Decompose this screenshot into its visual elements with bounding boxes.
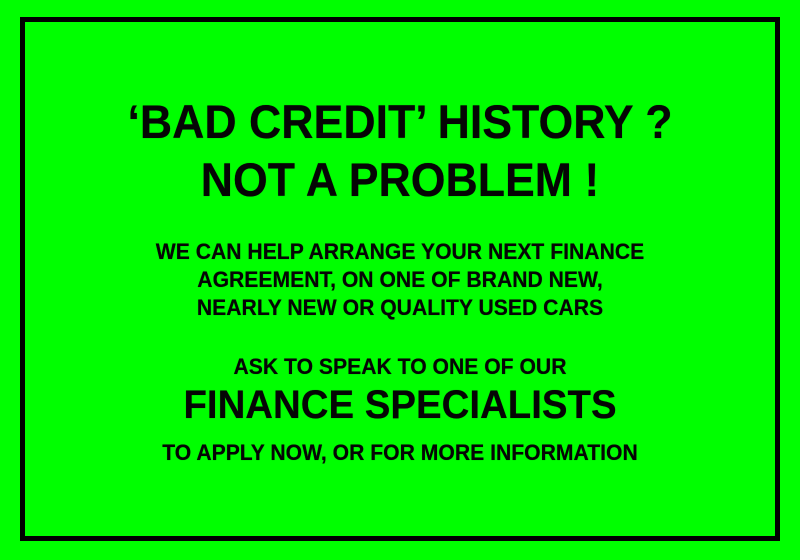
cta-lead-in-text: ASK TO SPEAK TO ONE OF OUR [24,356,776,379]
body-line-2: AGREEMENT, ON ONE OF BRAND NEW, [24,269,776,292]
headline-line-2: NOT A PROBLEM ! [20,156,780,203]
cta-headline-finance-specialists: FINANCE SPECIALISTS [16,385,784,425]
cta-tail-text: TO APPLY NOW, OR FOR MORE INFORMATION [24,442,776,465]
poster-text-block: ‘BAD CREDIT’ HISTORY ? NOT A PROBLEM ! W… [0,0,800,560]
body-line-3: NEARLY NEW OR QUALITY USED CARS [24,297,776,320]
advertisement-poster: ‘BAD CREDIT’ HISTORY ? NOT A PROBLEM ! W… [0,0,800,560]
headline-line-1: ‘BAD CREDIT’ HISTORY ? [20,98,780,145]
body-line-1: WE CAN HELP ARRANGE YOUR NEXT FINANCE [24,241,776,264]
